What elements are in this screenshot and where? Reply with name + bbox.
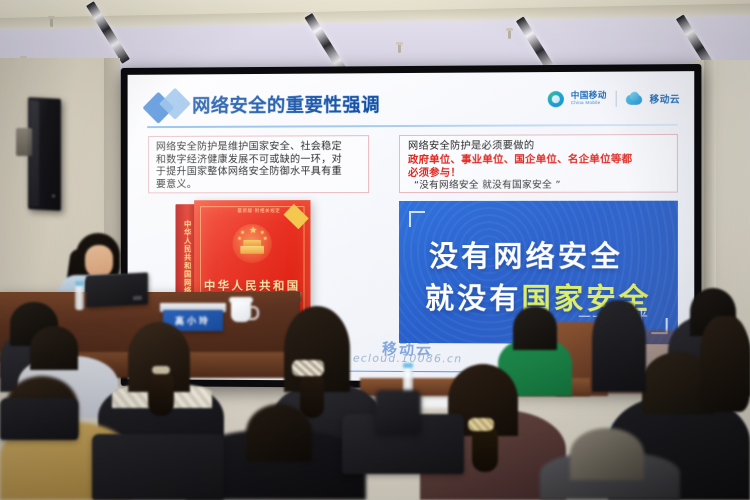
hair-tie-icon (152, 366, 170, 374)
conference-room: 网络安全的重要性强调 中国移动 China Mobile 移动云 (0, 0, 750, 500)
speaker-led (52, 194, 55, 197)
right-text-emphasis: 必须参与！ (408, 166, 669, 180)
left-text-line: 要意义。 (156, 179, 361, 192)
wall-speaker-icon (28, 97, 61, 211)
sprinkler-4 (508, 30, 511, 39)
audience-ponytail (148, 370, 174, 416)
emblem-star-main: ★ (249, 226, 257, 235)
audience-chair (0, 398, 78, 440)
emblem-star-small: ★ (263, 235, 267, 244)
teacup (231, 300, 251, 322)
audience-head (246, 404, 312, 462)
presenter-water-bottle (75, 284, 84, 310)
left-text-line: 网络安全防护是维护国家安全、社会稳定 (156, 141, 361, 154)
laptop (86, 274, 154, 308)
mobile-cloud-logo-icon (626, 92, 642, 106)
emblem-base (240, 246, 264, 254)
title-underline (147, 124, 678, 128)
hair-scrunchie-icon (292, 360, 324, 376)
sprinkler-3 (398, 44, 401, 53)
brand-lockup: 中国移动 China Mobile 移动云 (547, 90, 680, 107)
emblem-star-small: ★ (237, 235, 241, 244)
right-text-emphasis: 政府单位、事业单位、国企单位、名企单位等都 (408, 153, 669, 167)
bottle-cap (403, 363, 413, 368)
book-cover-note: 最新版·附相关规定 (237, 208, 280, 214)
audience-ponytail (472, 424, 498, 472)
presenter-name: 高小玲 (175, 314, 211, 327)
left-text-line: 和数字经济健康发展不可或缺的一环，对 (156, 154, 361, 167)
quote-corner-top-left (409, 211, 425, 227)
audience-head (570, 428, 644, 480)
presenter-water-bottle-cap (75, 281, 84, 286)
right-text-quote: “没有网络安全 就没有国家安全 ” (408, 179, 669, 192)
quote-line-2-plain: 就没有 (425, 281, 521, 315)
audience-head (513, 306, 557, 350)
china-mobile-logo-icon (547, 91, 563, 107)
left-text-box: 网络安全防护是维护国家安全、社会稳定 和数字经济健康发展不可或缺的一环，对 于提… (148, 135, 369, 193)
audience-person (592, 300, 646, 392)
brand-divider (616, 91, 617, 107)
right-text-lead: 网络安全防护是必须要做的 (408, 140, 669, 154)
right-text-box: 网络安全防护是必须要做的 政府单位、事业单位、国企单位、名企单位等都 必须参与！… (399, 134, 678, 193)
quote-line-1: 没有网络安全 (429, 233, 623, 275)
left-text-line: 于提升国家整体网络安全防御水平具有重 (156, 166, 361, 179)
speaker-mount-bracket (16, 128, 32, 156)
hair-scrunchie-icon (468, 418, 494, 431)
china-mobile-name-cn: 中国移动 (571, 92, 607, 101)
slide-title: 网络安全的重要性强调 (192, 91, 380, 118)
audience-chair (375, 390, 421, 434)
mobile-cloud-name: 移动云 (650, 91, 680, 105)
laptop-lid (86, 272, 148, 307)
china-mobile-wordmark: 中国移动 China Mobile (571, 92, 607, 106)
audience-head (700, 316, 750, 412)
teacup-handle (249, 306, 259, 320)
screenshot-root: 网络安全的重要性强调 中国移动 China Mobile 移动云 (0, 0, 750, 500)
audience-ponytail (300, 370, 324, 418)
audience-chair (92, 434, 224, 500)
laptop-logo-icon (133, 296, 142, 300)
audience-head (30, 326, 78, 370)
sprinkler-1 (50, 18, 53, 27)
china-mobile-name-en: China Mobile (571, 101, 607, 106)
national-emblem-icon: ★ ★ ★ ★ ★ (232, 224, 271, 264)
